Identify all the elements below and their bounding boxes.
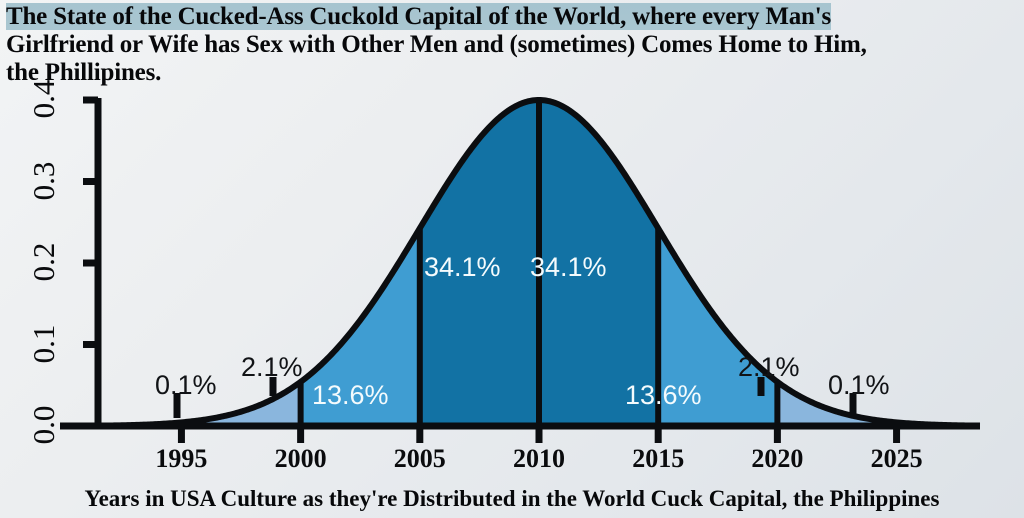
title-line-2-text: Girlfriend or Wife has Sex with Other Me… xyxy=(6,31,867,58)
x-axis-label-2025: 2025 xyxy=(852,444,942,474)
title-line-2: Girlfriend or Wife has Sex with Other Me… xyxy=(6,31,1024,59)
percent-label-0.1-7: 0.1% xyxy=(828,370,890,401)
percent-label-0.1-0: 0.1% xyxy=(155,370,217,401)
x-axis-label-2015: 2015 xyxy=(613,444,703,474)
y-axis-label-0.2: 0.2 xyxy=(26,227,62,297)
percent-label-2.1-6: 2.1% xyxy=(738,352,800,383)
percent-label-2.1-1: 2.1% xyxy=(241,352,303,383)
percent-label-13.6-2: 13.6% xyxy=(312,380,389,411)
percent-label-13.6-5: 13.6% xyxy=(625,380,702,411)
title-line-1: The State of the Cucked-Ass Cuckold Capi… xyxy=(6,3,1024,31)
title-line-3-text: the Phillipines. xyxy=(6,59,161,86)
meme-caption: Years in USA Culture as they're Distribu… xyxy=(0,486,1024,512)
x-axis-label-1995: 1995 xyxy=(136,444,226,474)
title-line-1-text: The State of the Cucked-Ass Cuckold Capi… xyxy=(6,3,831,30)
percent-label-34.1-4: 34.1% xyxy=(530,252,607,283)
x-axis-label-2010: 2010 xyxy=(494,444,584,474)
meme-title: The State of the Cucked-Ass Cuckold Capi… xyxy=(0,0,1024,87)
title-line-3: the Phillipines. xyxy=(6,59,1024,87)
y-axis-label-0.3: 0.3 xyxy=(26,146,62,216)
meme-image: 0.00.10.20.30.4 199520002005201020152020… xyxy=(0,0,1024,518)
x-axis-label-2020: 2020 xyxy=(732,444,822,474)
y-axis-label-0.0: 0.0 xyxy=(26,390,62,460)
x-axis-label-2005: 2005 xyxy=(375,444,465,474)
percent-label-34.1-3: 34.1% xyxy=(424,252,501,283)
y-axis-label-0.1: 0.1 xyxy=(26,309,62,379)
x-axis-label-2000: 2000 xyxy=(256,444,346,474)
